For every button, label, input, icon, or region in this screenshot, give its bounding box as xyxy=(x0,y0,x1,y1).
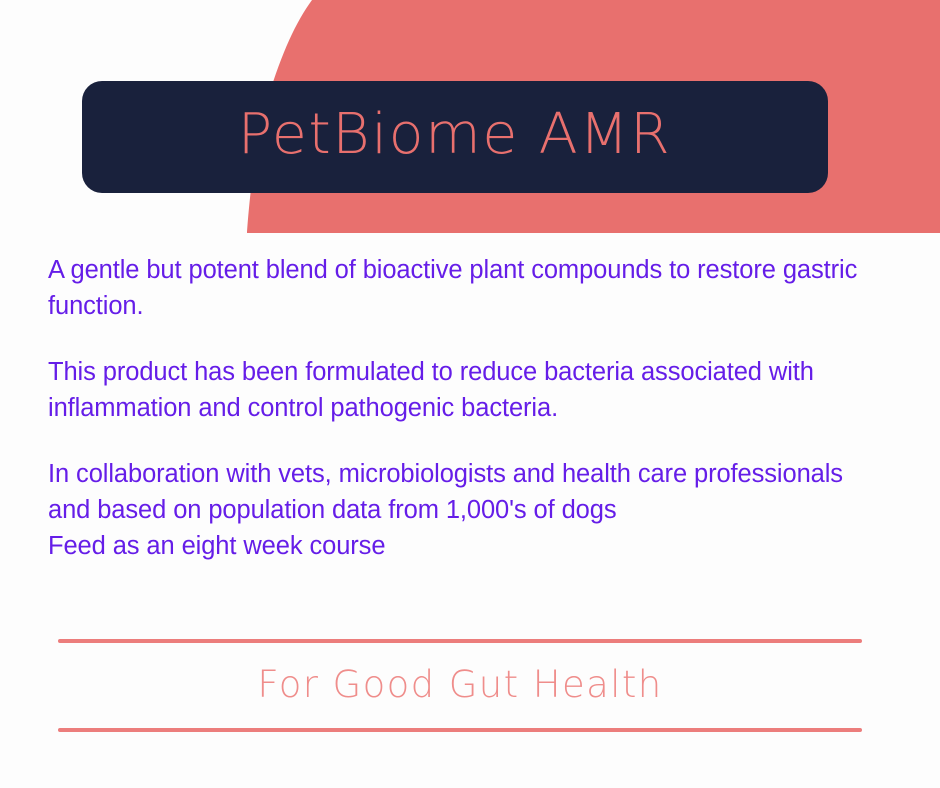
dosage-instruction: Feed as an eight week course xyxy=(48,528,880,564)
description-paragraph-2: This product has been formulated to redu… xyxy=(48,354,880,426)
divider-bottom xyxy=(58,728,862,732)
header-banner: PetBiome AMR xyxy=(0,0,940,240)
description-paragraph-3: In collaboration with vets, microbiologi… xyxy=(48,456,880,528)
product-description: A gentle but potent blend of bioactive p… xyxy=(48,252,880,564)
title-plate: PetBiome AMR xyxy=(82,81,828,193)
slogan-text: For Good Gut Health xyxy=(58,643,862,728)
description-paragraph-1: A gentle but potent blend of bioactive p… xyxy=(48,252,880,324)
product-info-card: PetBiome AMR A gentle but potent blend o… xyxy=(0,0,940,788)
footer-slogan-block: For Good Gut Health xyxy=(58,639,862,732)
page-title: PetBiome AMR xyxy=(238,107,672,163)
